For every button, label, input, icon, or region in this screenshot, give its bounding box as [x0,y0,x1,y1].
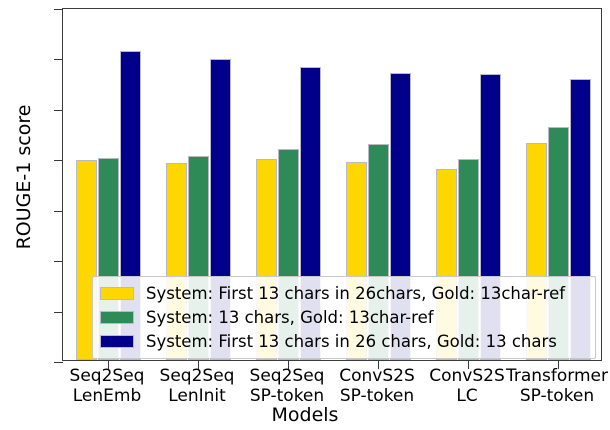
y-tick-40 [54,160,63,161]
y-tick-20 [54,261,63,262]
y-tick-30 [54,211,63,212]
y-axis-label: ROUGE-1 score [13,67,35,287]
y-tick-70 [54,9,63,10]
y-tick-10 [54,312,63,313]
legend-label-0: System: First 13 chars in 26chars, Gold:… [146,284,565,303]
y-tick-60 [54,59,63,60]
legend-swatch-1 [100,311,134,324]
x-tick-label-line: SP-token [497,386,610,406]
y-tick-50 [54,110,63,111]
legend-item-2[interactable]: System: First 13 chars in 26 chars, Gold… [100,329,588,353]
x-tick-label-5: TransformerSP-token [497,366,610,406]
legend-label-1: System: 13 chars, Gold: 13char-ref [146,308,434,327]
x-axis-label: Models [0,404,610,426]
legend-swatch-2 [100,335,134,348]
legend-label-2: System: First 13 chars in 26 chars, Gold… [146,332,557,351]
x-tick-label-line: Transformer [497,366,610,386]
bar-chart-figure: ROUGE-1 score 010203040506070 Seq2SeqLen… [0,0,610,430]
y-tick-0 [54,362,63,363]
legend-item-0[interactable]: System: First 13 chars in 26chars, Gold:… [100,281,588,305]
chart-legend: System: First 13 chars in 26chars, Gold:… [92,276,596,359]
legend-swatch-0 [100,287,134,300]
legend-item-1[interactable]: System: 13 chars, Gold: 13char-ref [100,305,588,329]
